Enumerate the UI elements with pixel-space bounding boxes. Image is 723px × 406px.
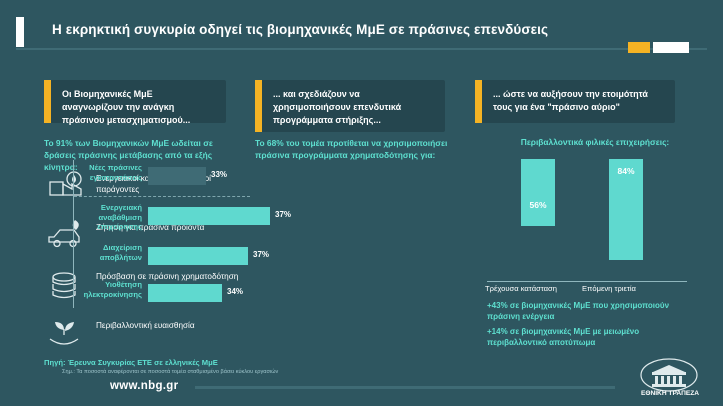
header-accent-bar <box>16 17 24 47</box>
source-text: Πηγή: Έρευνα Συγκυρίας ΕΤΕ σε ελληνικές … <box>44 358 218 367</box>
column3-note-0: +43% σε βιομηχανικές ΜμΕ που χρησιμοποιο… <box>487 300 687 322</box>
header-white-square <box>653 42 689 53</box>
hchart-bar-3 <box>148 284 222 302</box>
header-yellow-square <box>628 42 650 53</box>
hand-plant-icon <box>44 315 88 351</box>
nbg-logo-icon <box>640 358 698 392</box>
column3-note-1: +14% σε βιομηχανικές ΜμΕ με μειωμένο περ… <box>487 326 687 348</box>
hchart-label-0: Νέες πράσινες εγκαταστάσεις <box>80 163 142 182</box>
vchart-category-0: Τρέχουσα κατάσταση <box>476 284 566 293</box>
column1-list: Ενεργειακοί και περιβαλλοντικοί παράγοντ… <box>44 168 244 364</box>
hchart-bar-2 <box>148 247 248 265</box>
card-accent-3 <box>475 80 482 123</box>
infographic-page: Η εκρηκτική συγκυρία οδηγεί τις βιομηχαν… <box>0 0 723 406</box>
card-text-3: ... ώστε να αυξήσουν την ετοιμότητά τους… <box>493 88 665 114</box>
vchart-value-0: 56% <box>508 200 568 210</box>
hchart-label-2: Διαχείριση αποβλήτων <box>72 243 142 262</box>
hchart-label-1: Ενεργειακή αναβάθμιση επιχείρησης <box>80 203 142 232</box>
hchart-value-3: 34% <box>227 287 243 296</box>
hchart-value-0: 33% <box>211 170 227 179</box>
vchart-baseline <box>487 281 687 282</box>
list-item: Περιβαλλοντική ευαισθησία <box>44 315 244 353</box>
footer-divider <box>195 386 615 389</box>
column3-subtitle: Περιβαλλοντικά φιλικές επιχειρήσεις: <box>485 137 705 147</box>
hchart-axis <box>73 160 74 308</box>
list-item-label: Περιβαλλοντική ευαισθησία <box>96 320 246 331</box>
hchart-bar-0 <box>148 167 206 185</box>
vertical-bar-chart: 56% 84% <box>487 160 687 280</box>
hchart-label-3: Υιοθέτηση ηλεκτροκίνησης <box>80 280 142 299</box>
hchart-value-1: 37% <box>275 210 291 219</box>
website-link[interactable]: www.nbg.gr <box>110 380 178 392</box>
card-column-3: ... ώστε να αυξήσουν την ετοιμότητά τους… <box>475 80 675 123</box>
card-text-2: ... και σχεδιάζουν να χρησιμοποιήσουν επ… <box>273 88 435 127</box>
source-note: Σημ.: Τα ποσοστά αναφέρονται σε ποσοστά … <box>62 369 278 375</box>
bank-name-label: ΕΘΝΙΚΗ ΤΡΑΠΕΖΑ <box>630 390 710 397</box>
hchart-dashed-separator <box>74 196 250 197</box>
card-accent-1 <box>44 80 51 123</box>
vchart-category-1: Επόμενη τριετία <box>564 284 654 293</box>
vchart-value-1: 84% <box>596 166 656 176</box>
vchart-bar-group-0: 56% <box>521 159 555 280</box>
horizontal-bar-chart: Νέες πράσινες εγκαταστάσεις 33% Ενεργεια… <box>74 0 284 150</box>
vchart-bar-group-1: 84% <box>609 159 643 280</box>
column2-subtitle: Το 68% του τομέα προτίθεται να χρησιμοπο… <box>255 137 460 161</box>
vchart-bar-0 <box>521 159 555 226</box>
hchart-bar-1 <box>148 207 270 225</box>
hchart-value-2: 37% <box>253 250 269 259</box>
